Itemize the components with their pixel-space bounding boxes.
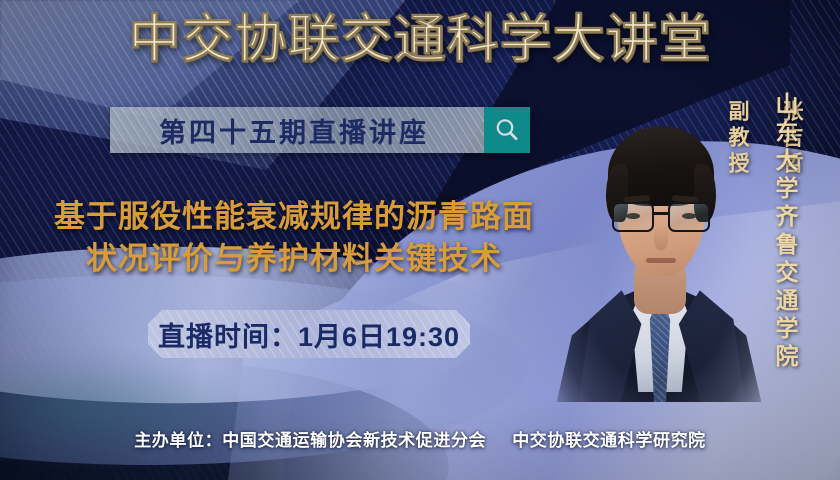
search-icon xyxy=(493,116,521,144)
broadcast-time-badge: 直播时间：1月6日19:30 xyxy=(148,310,470,358)
portrait-nose xyxy=(654,224,668,250)
lecture-title-line-2: 状况评价与养护材料关键技术 xyxy=(14,238,574,280)
speaker-affiliation: 山东大学齐鲁交通学院 xyxy=(768,92,802,372)
organizer-secondary: 中交协联交通科学研究院 xyxy=(512,431,706,450)
organizer-prefix: 主办单位： xyxy=(134,431,222,450)
portrait-lens-left xyxy=(612,202,654,232)
lecture-title-line-1: 基于服役性能衰减规律的沥青路面 xyxy=(14,196,574,238)
series-label: 第四十五期直播讲座 xyxy=(110,111,484,150)
organizer-line: 主办单位：中国交通运输协会新技术促进分会中交协联交通科学研究院 xyxy=(0,426,840,451)
lecture-title: 基于服役性能衰减规律的沥青路面 状况评价与养护材料关键技术 xyxy=(14,196,574,279)
portrait-lens-right xyxy=(668,202,710,232)
portrait-glasses-bridge xyxy=(654,212,668,215)
webinar-poster: 中交协联交通科学大讲堂 第四十五期直播讲座 基于服役性能衰减规律的沥青路面 状况… xyxy=(0,0,840,480)
page-title: 中交协联交通科学大讲堂 xyxy=(0,14,840,66)
broadcast-time-text: 直播时间：1月6日19:30 xyxy=(158,315,460,354)
portrait-mouth xyxy=(646,258,676,263)
background-teal-glint xyxy=(0,350,270,470)
search-icon-tile[interactable] xyxy=(484,107,530,153)
organizer-primary: 中国交通运输协会新技术促进分会 xyxy=(222,431,486,450)
series-banner: 第四十五期直播讲座 xyxy=(110,107,530,153)
